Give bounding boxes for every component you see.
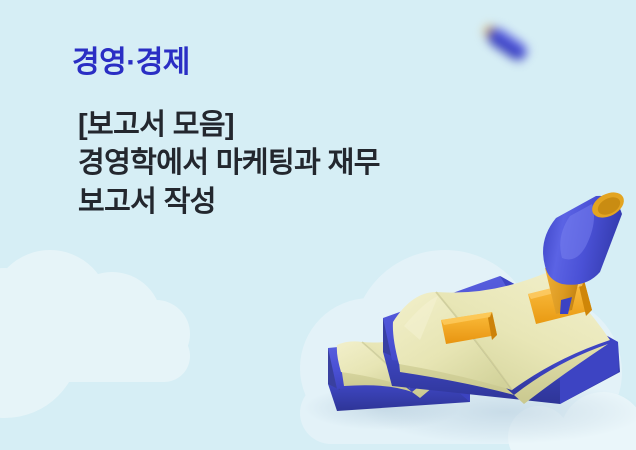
headline-line-3: 보고서 작성 xyxy=(78,183,380,222)
cloud-puff xyxy=(122,300,190,368)
cloud-puff xyxy=(0,268,80,418)
category-label: 경영·경제 xyxy=(72,44,380,82)
cloud-puff xyxy=(300,298,440,438)
page-title: [보고서 모음] 경영학에서 마케팅과 재무 보고서 작성 xyxy=(78,106,380,222)
cloud-puff xyxy=(300,382,622,444)
cloud-puff xyxy=(508,406,570,450)
floating-pencil-icon xyxy=(468,12,537,70)
cloud-puff xyxy=(0,250,110,370)
headline-line-1: [보고서 모음] xyxy=(78,106,380,145)
headline-line-2: 경영학에서 마케팅과 재무 xyxy=(78,144,380,183)
large-open-book xyxy=(383,272,620,404)
banner-copy: 경영·경제 [보고서 모음] 경영학에서 마케팅과 재무 보고서 작성 xyxy=(72,44,380,221)
cloud-puff xyxy=(560,392,636,450)
cloud-puff xyxy=(352,250,538,436)
report-banner: 경영·경제 [보고서 모음] 경영학에서 마케팅과 재무 보고서 작성 xyxy=(0,0,636,450)
small-open-book xyxy=(328,330,470,411)
highlighter-pen xyxy=(543,187,628,314)
cloud-puff xyxy=(62,272,162,372)
cloud-puff xyxy=(0,330,190,382)
bookmark-sticker-left xyxy=(441,312,497,344)
cloud-puff xyxy=(470,296,622,448)
bookmark-sticker-right xyxy=(528,280,592,324)
